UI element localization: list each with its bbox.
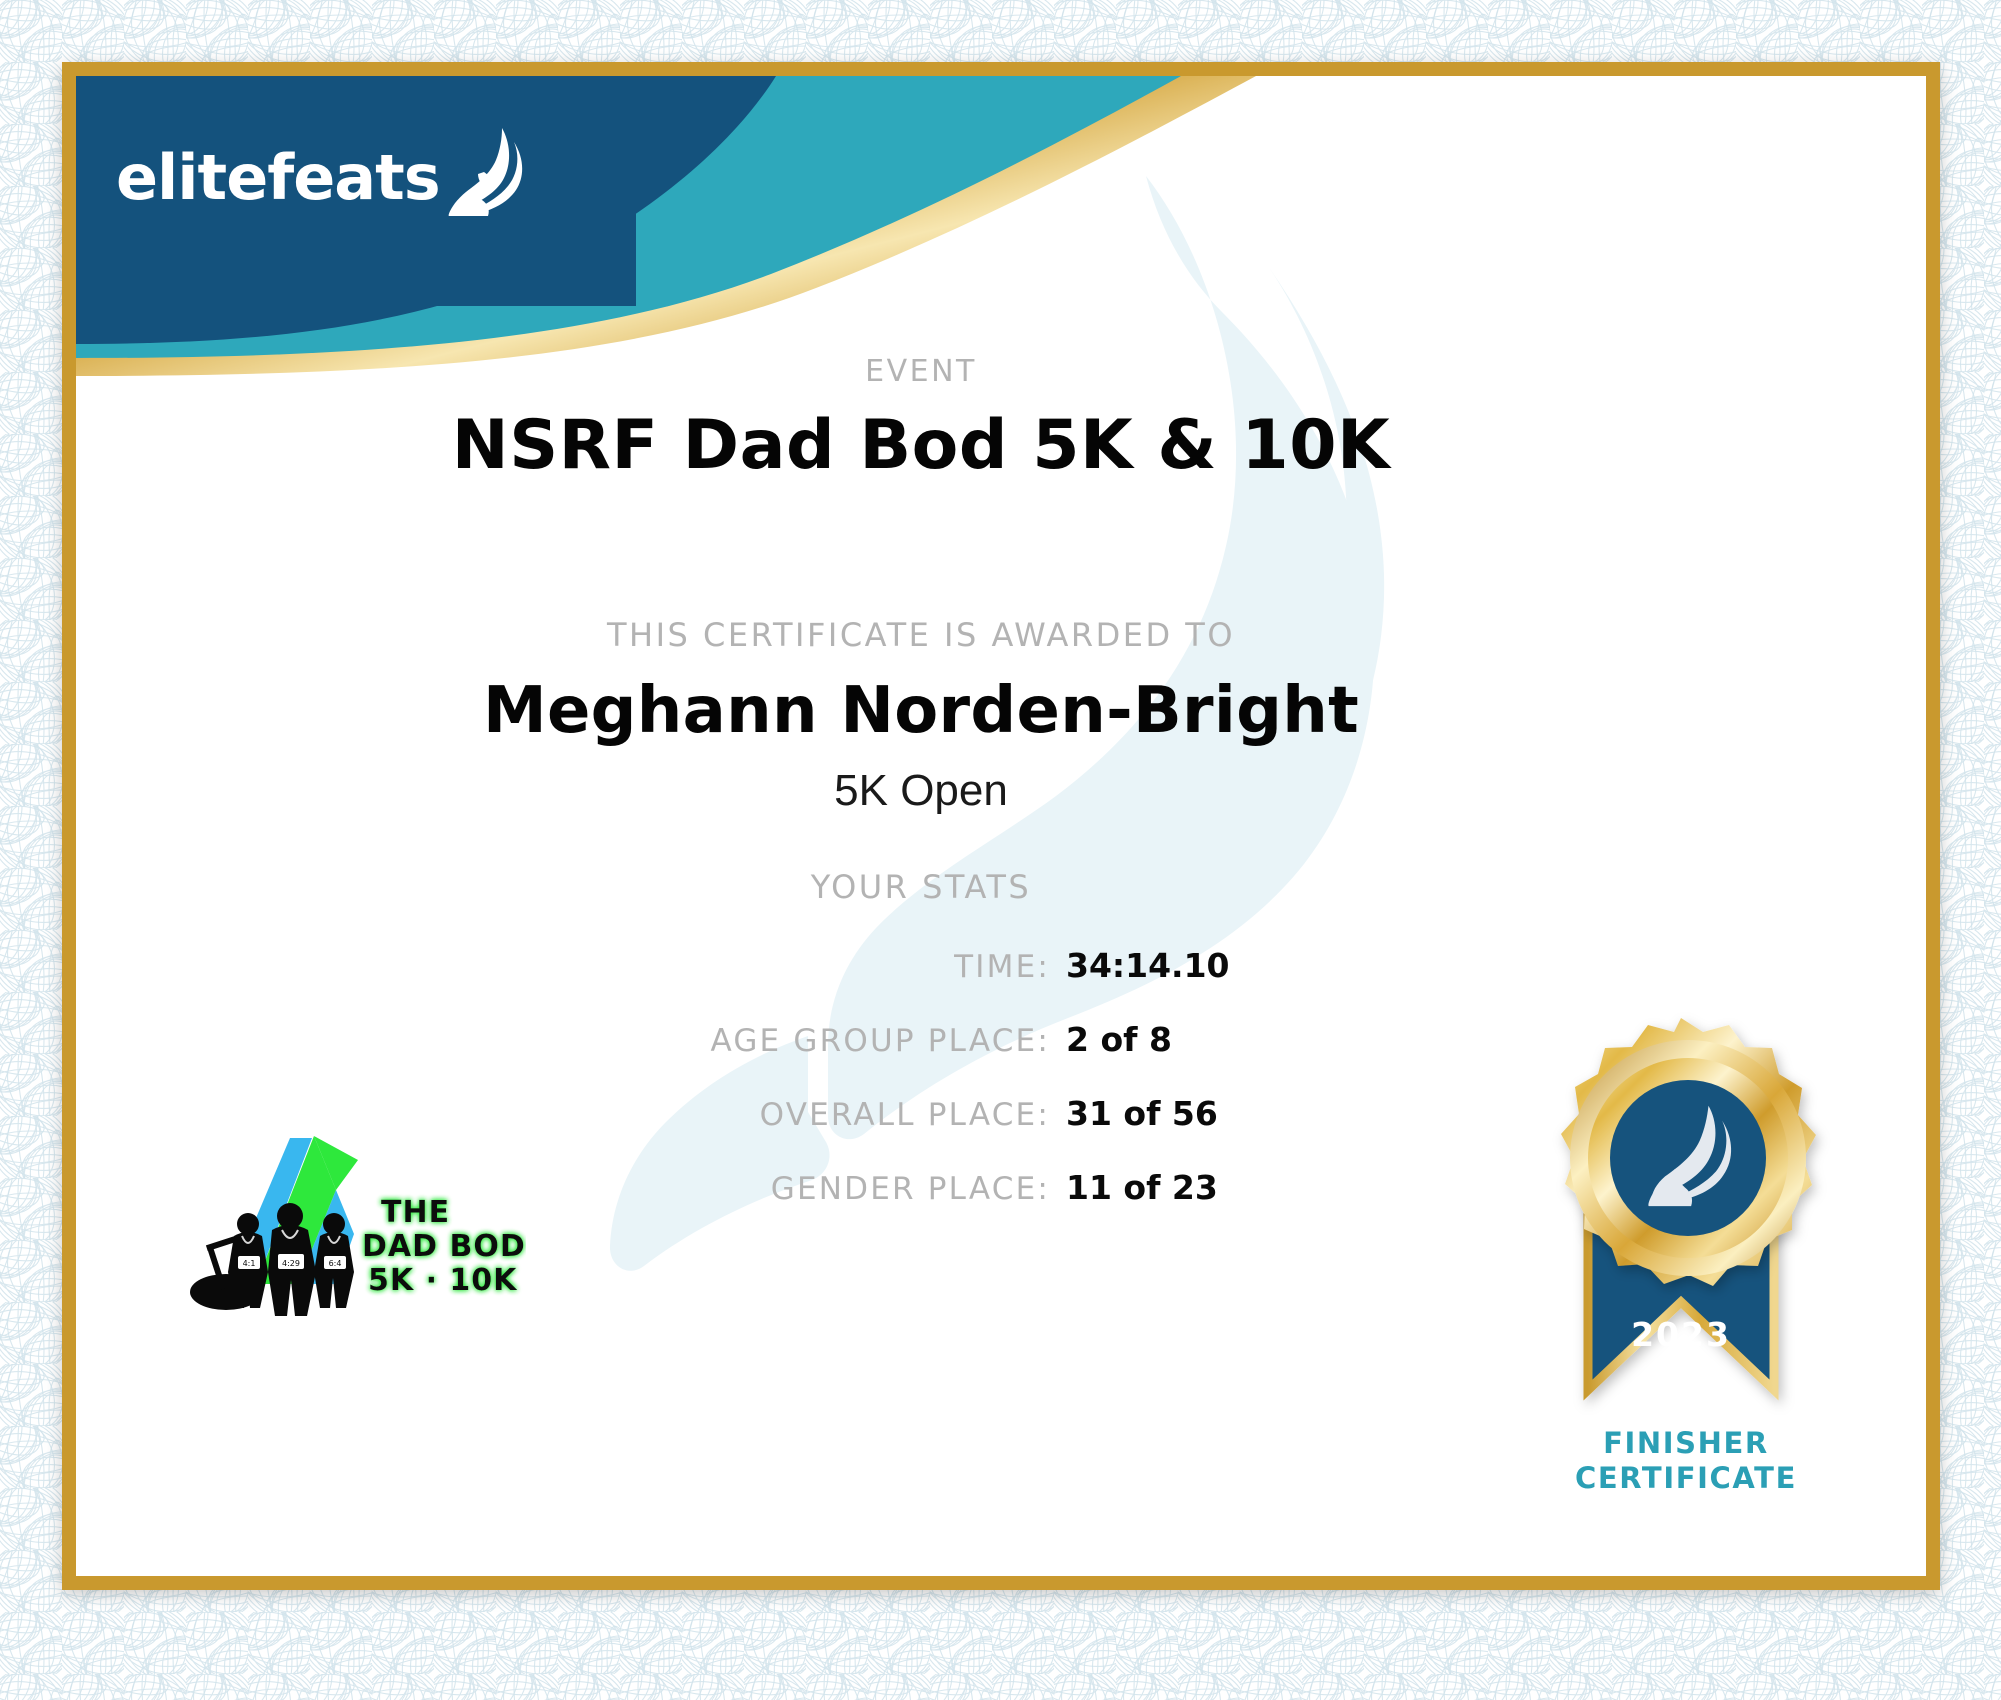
event-label: EVENT [76, 354, 1766, 389]
stat-value: 11 of 23 [1066, 1168, 1286, 1207]
stat-row-overall-place: OVERALL PLACE: 31 of 56 [406, 1094, 1286, 1140]
certificate-frame: elitefeats EVENT NSRF Dad Bod 5K & 10K T… [62, 62, 1940, 1590]
stat-row-gender-place: GENDER PLACE: 11 of 23 [406, 1168, 1286, 1214]
event-logo-line1: THE [381, 1195, 450, 1230]
medal-caption-line1: FINISHER [1476, 1426, 1896, 1461]
medal-year: 2023 [1631, 1315, 1731, 1354]
event-logo-line2: DAD BOD [362, 1229, 526, 1264]
medal-caption: FINISHER CERTIFICATE [1476, 1426, 1896, 1497]
awarded-to-label: THIS CERTIFICATE IS AWARDED TO [76, 616, 1766, 654]
brand-logo: elitefeats [116, 134, 530, 221]
brand-name: elitefeats [116, 147, 440, 209]
bib-number: 4:1 [243, 1259, 256, 1268]
bib-number: 4:29 [282, 1259, 300, 1268]
recipient-name: Meghann Norden-Bright [76, 674, 1766, 748]
stats-list: TIME: 34:14.10 AGE GROUP PLACE: 2 of 8 O… [406, 946, 1286, 1242]
event-logo-line3: 5K · 10K [368, 1263, 518, 1298]
finisher-medal-badge: 2023 [1516, 1006, 1846, 1436]
certificate-body: elitefeats EVENT NSRF Dad Bod 5K & 10K T… [76, 76, 1926, 1576]
your-stats-label: YOUR STATS [76, 868, 1766, 906]
division-name: 5K Open [76, 766, 1766, 816]
winged-foot-icon [444, 124, 530, 221]
stat-value: 34:14.10 [1066, 946, 1286, 985]
stat-label: TIME: [954, 949, 1050, 985]
bib-number: 6:4 [329, 1259, 342, 1268]
event-title: NSRF Dad Bod 5K & 10K [76, 406, 1766, 485]
stat-value: 31 of 56 [1066, 1094, 1286, 1133]
event-logo-dad-bod: 4:1 4:29 6:4 THE DAD BOD 5K · 10K [186, 1116, 526, 1316]
stat-value: 2 of 8 [1066, 1020, 1286, 1059]
stat-row-time: TIME: 34:14.10 [406, 946, 1286, 992]
stat-label: AGE GROUP PLACE: [710, 1023, 1050, 1059]
stat-row-age-group-place: AGE GROUP PLACE: 2 of 8 [406, 1020, 1286, 1066]
stat-label: OVERALL PLACE: [760, 1097, 1050, 1133]
stat-label: GENDER PLACE: [771, 1171, 1050, 1207]
medal-caption-line2: CERTIFICATE [1476, 1461, 1896, 1496]
